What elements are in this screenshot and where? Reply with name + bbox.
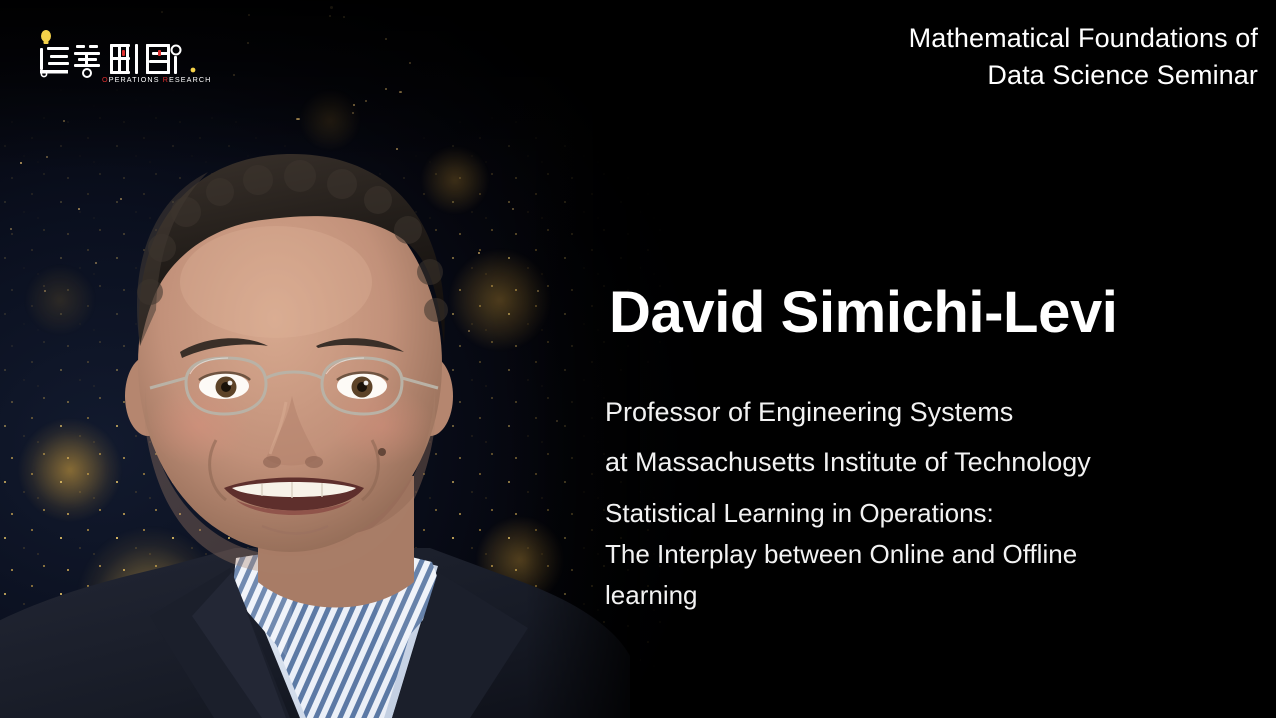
operations-research-logo: OPERATIONS RESEARCH	[34, 28, 214, 86]
seminar-announcement-slide: OPERATIONS RESEARCH Mathematical Foundat…	[0, 0, 1276, 718]
talk-title-line2: The Interplay between Online and Offline	[605, 534, 1225, 575]
logo-subtitle-text: OPERATIONS RESEARCH	[102, 75, 211, 84]
speaker-name: David Simichi-Levi	[609, 281, 1118, 345]
seminar-series-title: Mathematical Foundations of Data Science…	[738, 20, 1258, 94]
logo-dot	[191, 68, 196, 73]
speaker-affiliation: Professor of Engineering Systems at Mass…	[605, 387, 1225, 487]
talk-title: Statistical Learning in Operations: The …	[605, 493, 1225, 616]
affiliation-line2: at Massachusetts Institute of Technology	[605, 437, 1225, 487]
talk-title-line1: Statistical Learning in Operations:	[605, 493, 1225, 534]
lightbulb-icon	[41, 30, 51, 44]
talk-title-line3: learning	[605, 575, 1225, 616]
affiliation-line1: Professor of Engineering Systems	[605, 387, 1225, 437]
seminar-title-line2: Data Science Seminar	[738, 57, 1258, 94]
speaker-portrait	[0, 96, 640, 718]
seminar-title-line1: Mathematical Foundations of	[738, 20, 1258, 57]
